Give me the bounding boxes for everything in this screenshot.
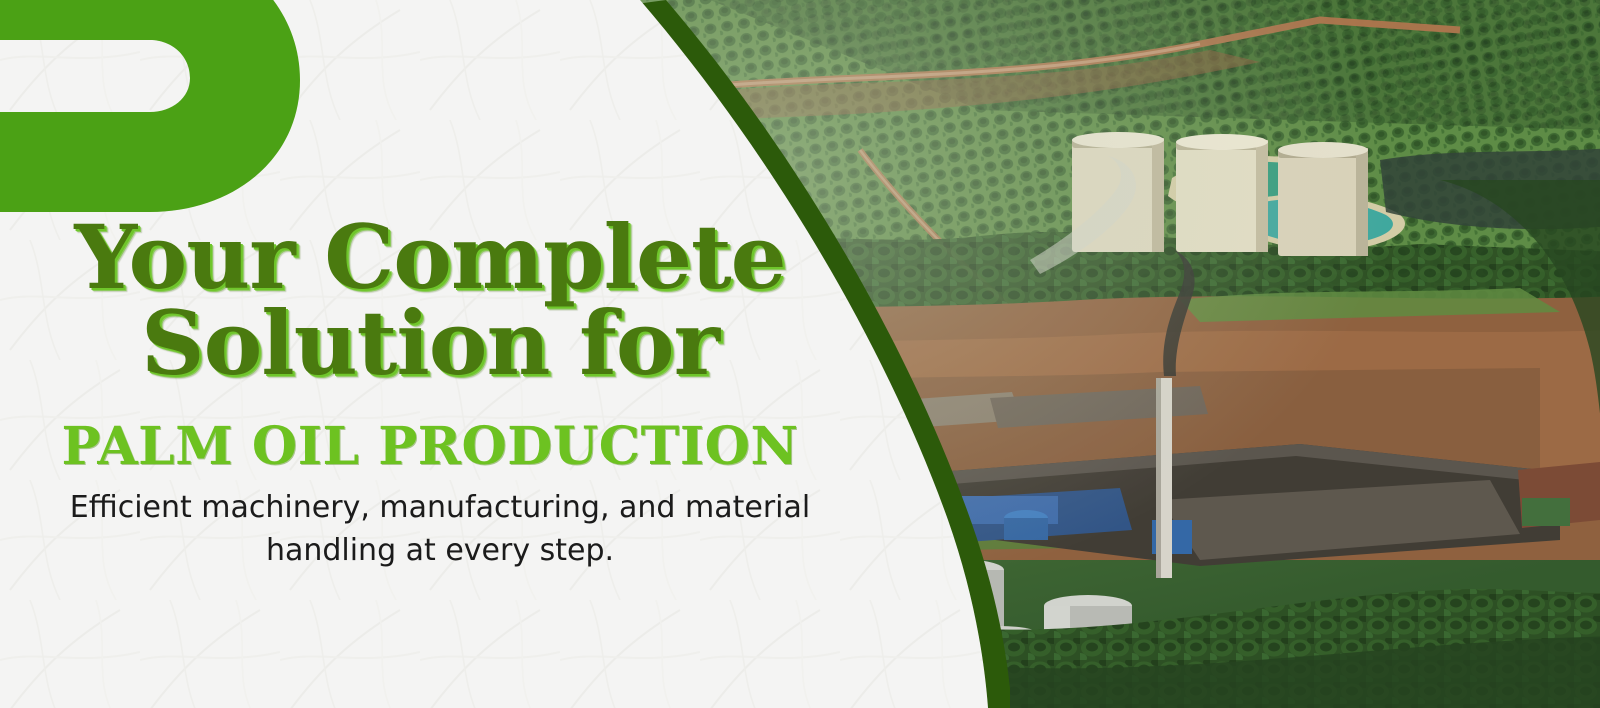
tagline-line-1: Efficient machinery, manufacturing, and … (60, 487, 820, 530)
green-hook-decoration (0, 0, 420, 240)
subheadline: PALM OIL PRODUCTION (0, 416, 860, 477)
page-title: Your Complete Solution for (0, 214, 860, 386)
palm-oil-hero-banner: Your Complete Solution for PALM OIL PROD… (0, 0, 1600, 708)
tagline: Efficient machinery, manufacturing, and … (60, 487, 820, 572)
headline-line-2: Solution for (0, 300, 860, 386)
tagline-line-2: handling at every step. (60, 530, 820, 573)
